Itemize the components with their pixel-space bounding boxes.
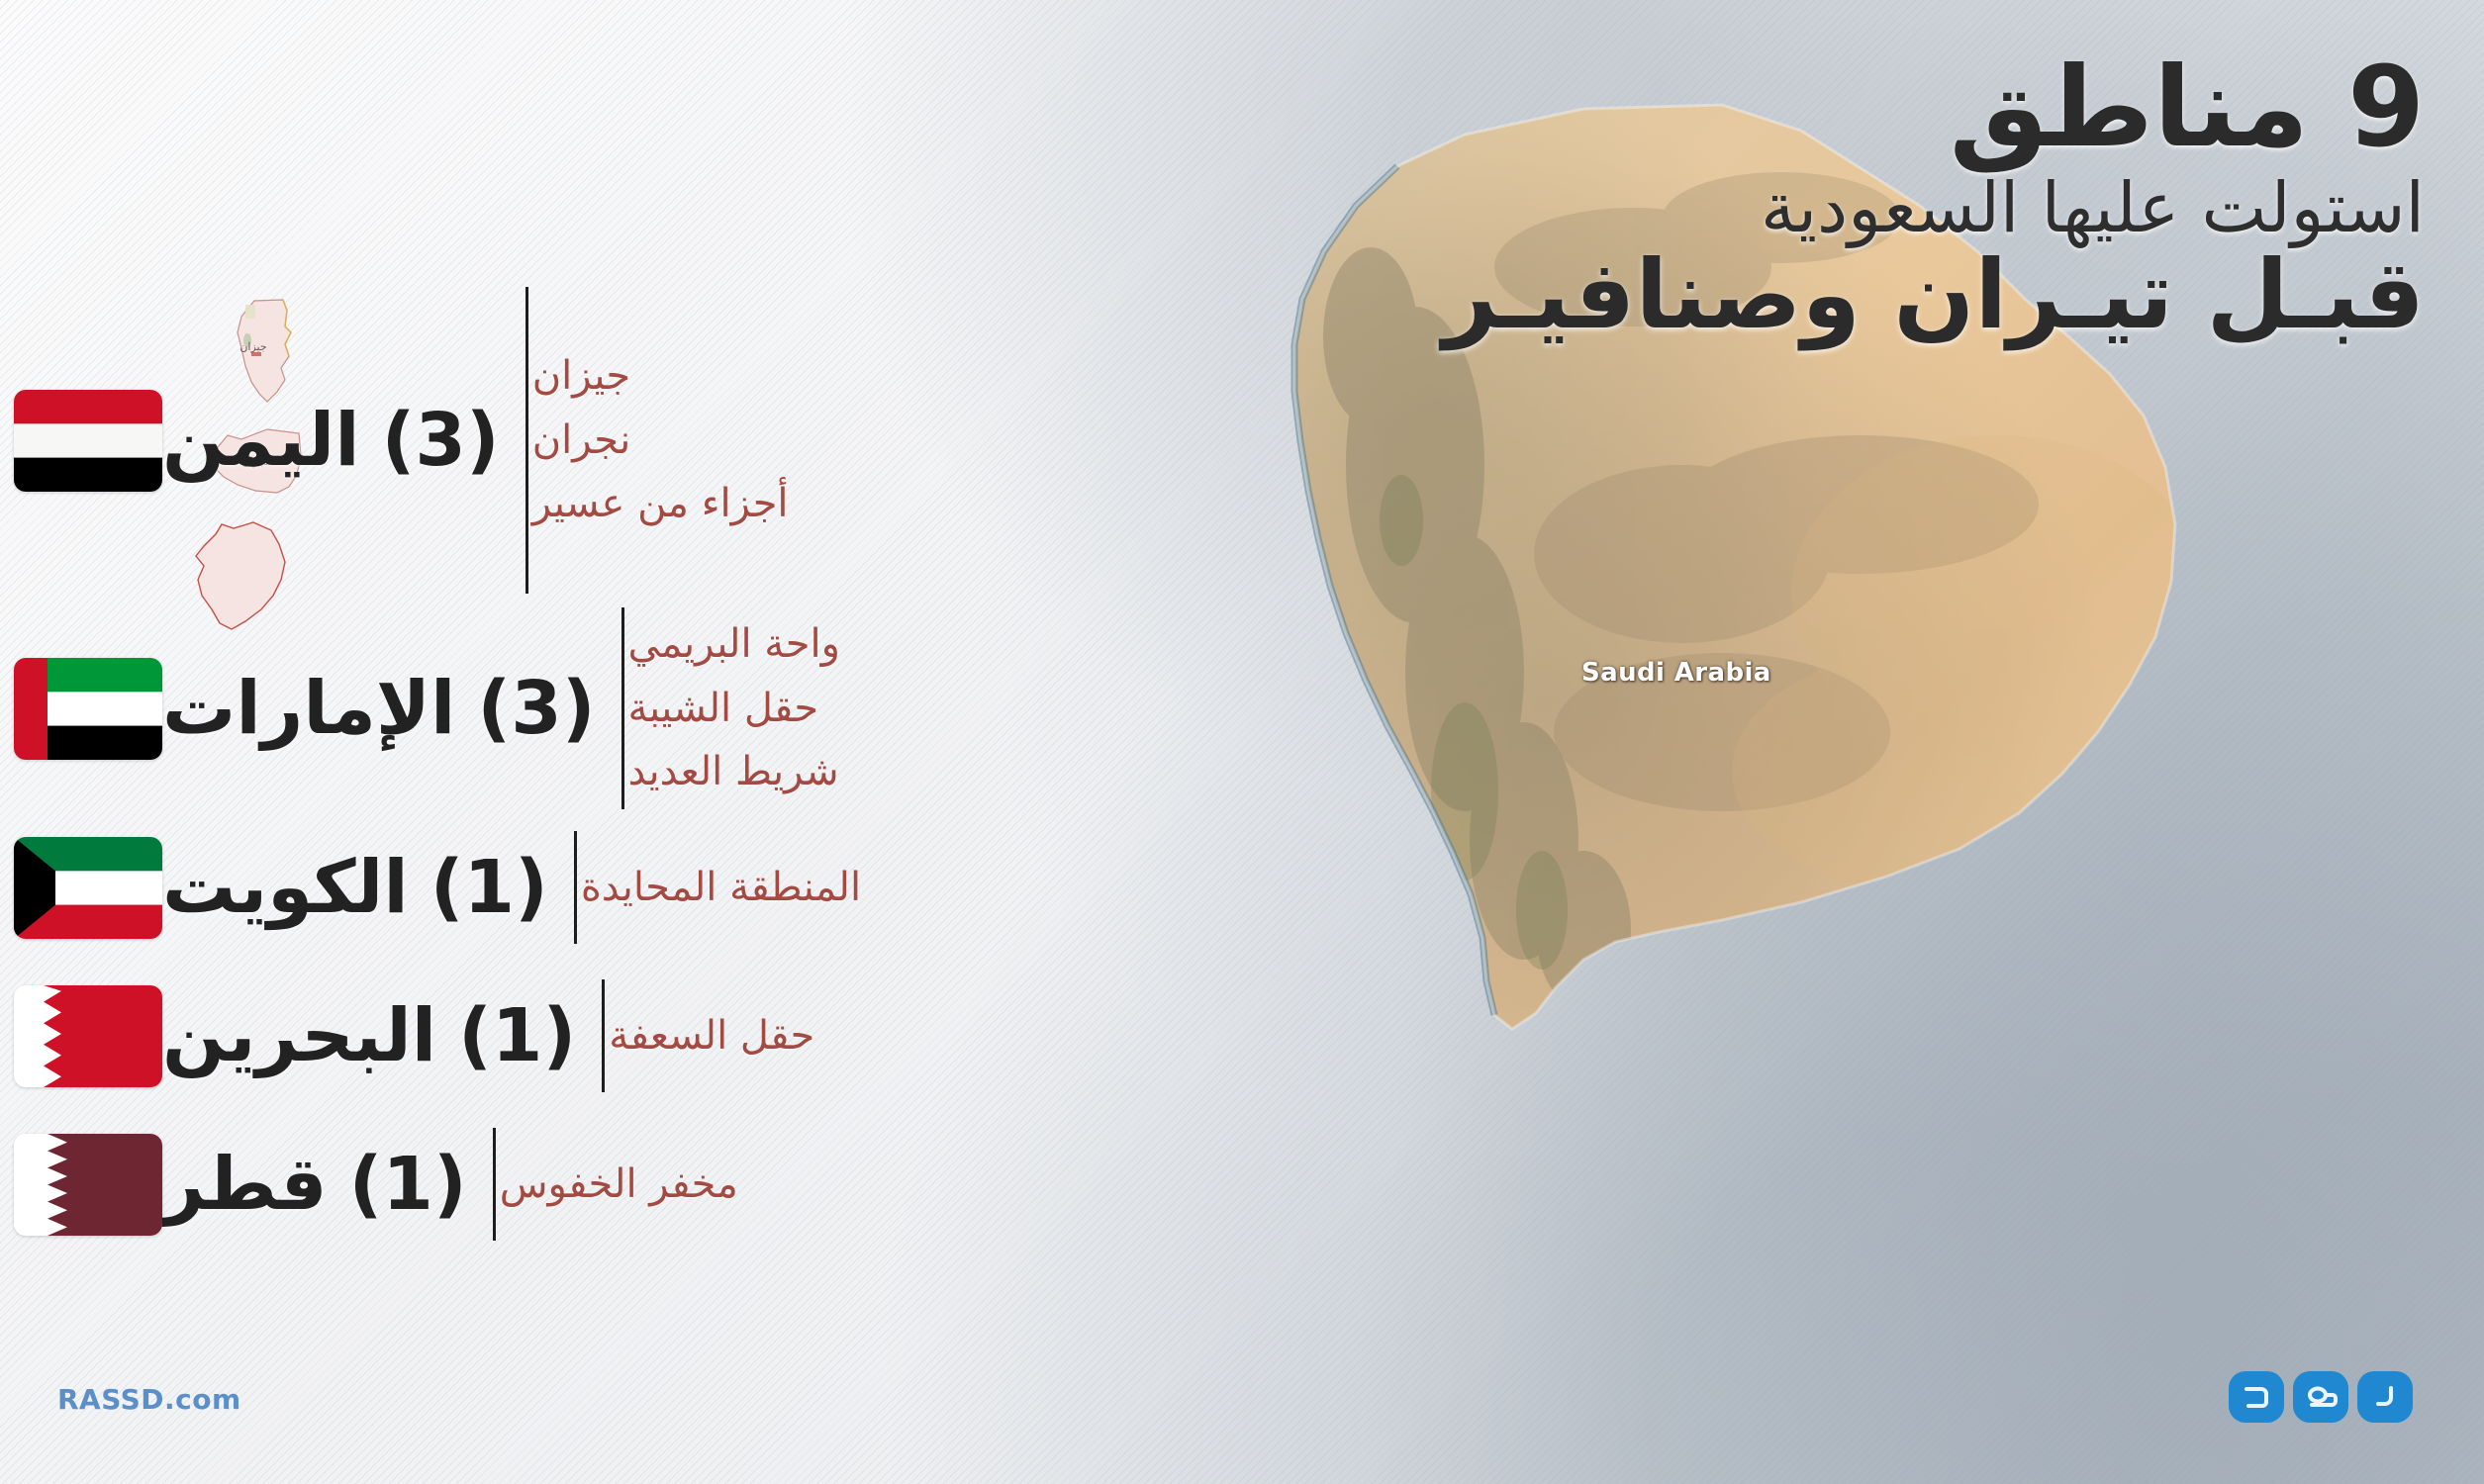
headline-line-3: قبـل تيـران وصنافيـر: [1257, 244, 2425, 347]
table-row[interactable]: الإمارات (3) واحة البريمي حقل الشيبة شري…: [0, 603, 1188, 813]
region-item-list: جيزان نجران أجزاء من عسير: [532, 344, 1188, 536]
country-count: (1): [430, 845, 548, 930]
country-list: اليمن (3) جيزان نجران أجزاء من عسير الإم…: [0, 277, 1188, 1258]
table-row[interactable]: الكويت (1) المنطقة المحايدة: [0, 813, 1188, 962]
site-watermark[interactable]: RASSD.com: [57, 1383, 241, 1416]
kuwait-flag: [14, 837, 162, 939]
country-count: (1): [458, 993, 576, 1078]
map-country-label: Saudi Arabia: [1581, 658, 1771, 688]
logo-letter-sad-icon: [2293, 1371, 2348, 1423]
headline-block: 9 مناطق استولت عليها السعودية قبـل تيـرا…: [1257, 51, 2425, 346]
headline-line-2: استولت عليها السعودية: [1257, 168, 2425, 248]
region-item-list: حقل السعفة: [609, 1004, 1188, 1068]
region-item-list: المنطقة المحايدة: [581, 856, 1188, 920]
list-item: أجزاء من عسير: [532, 472, 789, 536]
logo-letter-dal-icon: [2229, 1371, 2284, 1423]
list-item: شريط العديد: [628, 740, 839, 804]
infographic-canvas: Saudi Arabia 9 مناطق استولت عليها السعود…: [0, 0, 2484, 1484]
headline-line-1: 9 مناطق: [1257, 51, 2425, 164]
rassd-logo[interactable]: [2229, 1371, 2413, 1423]
list-item: حقل الشيبة: [628, 677, 819, 741]
country-name: اليمن: [162, 398, 360, 483]
qatar-flag: [14, 1134, 162, 1236]
table-row[interactable]: قطر (1) مخفر الخفوس: [0, 1110, 1188, 1258]
country-count: (1): [349, 1142, 467, 1227]
table-row[interactable]: اليمن (3) جيزان نجران أجزاء من عسير: [0, 277, 1188, 603]
row-divider: [574, 831, 577, 944]
row-divider: [493, 1128, 496, 1241]
row-divider: [525, 287, 528, 594]
table-row[interactable]: البحرين (1) حقل السعفة: [0, 962, 1188, 1110]
uae-flag: [14, 658, 162, 760]
row-divider: [602, 979, 605, 1092]
country-count: (3): [477, 666, 595, 751]
list-item: مخفر الخفوس: [500, 1153, 738, 1217]
country-name: البحرين: [162, 993, 436, 1078]
country-name: قطر: [162, 1142, 328, 1227]
logo-letter-ra-icon: [2357, 1371, 2413, 1423]
row-divider: [621, 607, 624, 809]
list-item: واحة البريمي: [628, 612, 840, 677]
list-item: المنطقة المحايدة: [581, 856, 861, 920]
yemen-flag: [14, 390, 162, 492]
country-name: الكويت: [162, 845, 409, 930]
country-count: (3): [382, 398, 500, 483]
region-item-list: مخفر الخفوس: [500, 1153, 1188, 1217]
country-name: الإمارات: [162, 666, 455, 751]
list-item: نجران: [532, 409, 631, 473]
bahrain-flag: [14, 985, 162, 1087]
list-item: حقل السعفة: [609, 1004, 814, 1068]
list-item: جيزان: [532, 344, 630, 409]
region-item-list: واحة البريمي حقل الشيبة شريط العديد: [628, 612, 1188, 804]
